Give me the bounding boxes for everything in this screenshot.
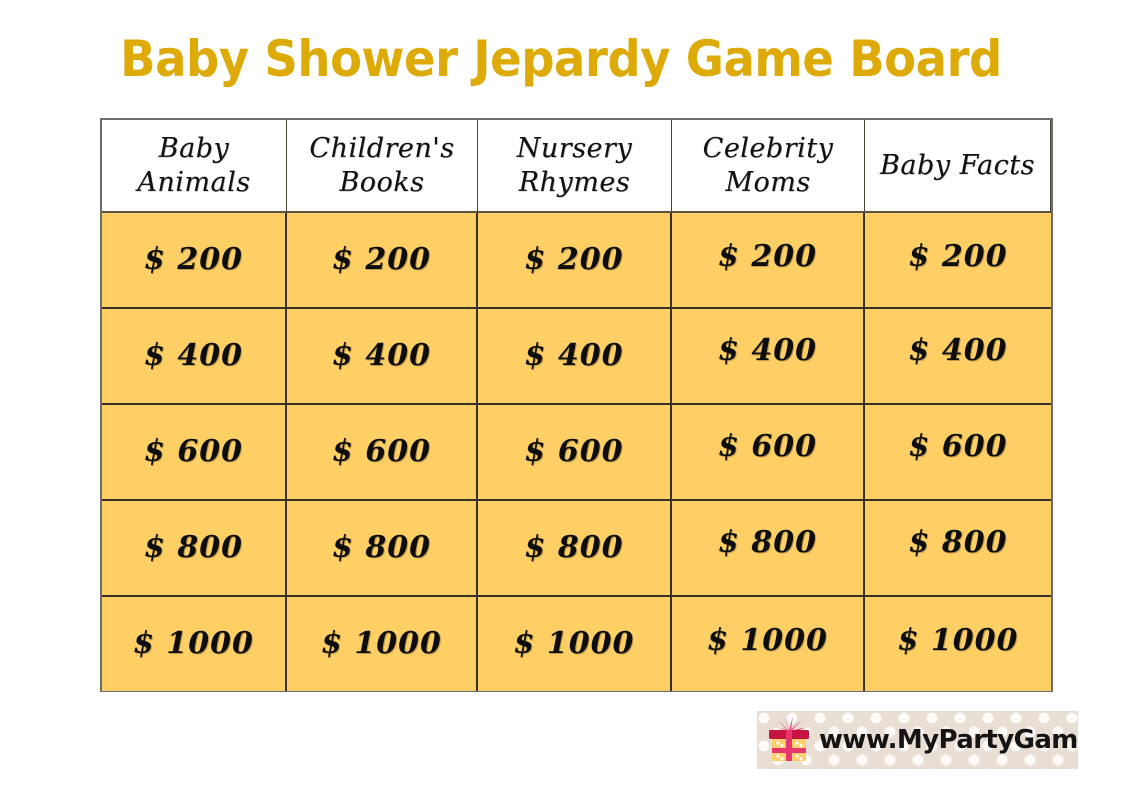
cell-value: $ 1000 <box>514 627 635 661</box>
board-cell-nursery-rhymes-1000[interactable]: $ 1000 <box>478 597 672 691</box>
board-cell-childrens-books-400[interactable]: $ 400 <box>287 309 478 405</box>
board-cell-childrens-books-200[interactable]: $ 200 <box>287 213 478 309</box>
jeopardy-game-board: Baby Animals Children's Books Nursery Rh… <box>100 118 1053 692</box>
page-title: Baby Shower Jepardy Game Board <box>39 30 1082 88</box>
board-cell-childrens-books-1000[interactable]: $ 1000 <box>287 597 478 691</box>
board-cell-baby-facts-600[interactable]: $ 600 <box>865 405 1051 501</box>
board-value-row: $ 1000 $ 1000 $ 1000 $ 1000 $ 1000 <box>102 597 1051 691</box>
cell-value: $ 200 <box>909 240 1008 274</box>
cell-value: $ 400 <box>144 339 243 373</box>
cell-value: $ 800 <box>332 531 431 565</box>
cell-value: $ 400 <box>909 334 1008 368</box>
board-cell-baby-animals-800[interactable]: $ 800 <box>102 501 287 597</box>
cell-value: $ 200 <box>144 243 243 277</box>
category-line-2: Books <box>339 167 424 198</box>
category-header-label: Children's Books <box>305 132 458 200</box>
category-line-1: Nursery <box>517 133 632 164</box>
board-cell-baby-facts-400[interactable]: $ 400 <box>865 309 1051 405</box>
category-line-1: Celebrity <box>703 133 834 164</box>
cell-value: $ 600 <box>718 430 817 464</box>
board-cell-nursery-rhymes-200[interactable]: $ 200 <box>478 213 672 309</box>
board-cell-celebrity-moms-400[interactable]: $ 400 <box>672 309 865 405</box>
watermark-url-label: www.MyPartyGames.com <box>819 725 1078 755</box>
board-cell-nursery-rhymes-800[interactable]: $ 800 <box>478 501 672 597</box>
category-line-1: Baby <box>159 133 229 164</box>
category-header-label: Baby Animals <box>133 132 254 200</box>
cell-value: $ 600 <box>525 435 624 469</box>
category-line-1: Children's <box>309 133 454 164</box>
category-line-2: Moms <box>725 167 810 198</box>
board-cell-baby-facts-200[interactable]: $ 200 <box>865 213 1051 309</box>
board-cell-nursery-rhymes-400[interactable]: $ 400 <box>478 309 672 405</box>
category-line-2: Rhymes <box>519 167 630 198</box>
cell-value: $ 400 <box>525 339 624 373</box>
cell-value: $ 800 <box>525 531 624 565</box>
board-value-row: $ 800 $ 800 $ 800 $ 800 $ 800 <box>102 501 1051 597</box>
board-cell-celebrity-moms-1000[interactable]: $ 1000 <box>672 597 865 691</box>
category-header-baby-facts[interactable]: Baby Facts <box>865 120 1051 213</box>
cell-value: $ 600 <box>144 435 243 469</box>
board-cell-baby-facts-1000[interactable]: $ 1000 <box>865 597 1051 691</box>
cell-value: $ 200 <box>718 240 817 274</box>
board-cell-celebrity-moms-800[interactable]: $ 800 <box>672 501 865 597</box>
cell-value: $ 800 <box>144 531 243 565</box>
cell-value: $ 200 <box>332 243 431 277</box>
category-header-childrens-books[interactable]: Children's Books <box>287 120 478 213</box>
board-value-row: $ 400 $ 400 $ 400 $ 400 $ 400 <box>102 309 1051 405</box>
category-line-2: Animals <box>137 167 250 198</box>
category-header-label: Nursery Rhymes <box>513 132 636 200</box>
board-cell-celebrity-moms-600[interactable]: $ 600 <box>672 405 865 501</box>
cell-value: $ 1000 <box>898 624 1019 658</box>
category-header-label: Baby Facts <box>876 149 1039 183</box>
board-cell-childrens-books-800[interactable]: $ 800 <box>287 501 478 597</box>
cell-value: $ 200 <box>525 243 624 277</box>
cell-value: $ 600 <box>909 430 1008 464</box>
board-cell-baby-facts-800[interactable]: $ 800 <box>865 501 1051 597</box>
cell-value: $ 1000 <box>133 627 254 661</box>
category-line-1: Baby Facts <box>880 150 1035 181</box>
cell-value: $ 1000 <box>321 627 442 661</box>
board-cell-baby-animals-400[interactable]: $ 400 <box>102 309 287 405</box>
cell-value: $ 800 <box>909 526 1008 560</box>
category-header-celebrity-moms[interactable]: Celebrity Moms <box>672 120 865 213</box>
cell-value: $ 600 <box>332 435 431 469</box>
board-cell-baby-animals-1000[interactable]: $ 1000 <box>102 597 287 691</box>
board-cell-celebrity-moms-200[interactable]: $ 200 <box>672 213 865 309</box>
gift-box-icon <box>763 714 815 766</box>
board-cell-baby-animals-600[interactable]: $ 600 <box>102 405 287 501</box>
site-watermark[interactable]: www.MyPartyGames.com <box>757 711 1078 769</box>
cell-value: $ 400 <box>718 334 817 368</box>
board-value-row: $ 600 $ 600 $ 600 $ 600 $ 600 <box>102 405 1051 501</box>
category-header-label: Celebrity Moms <box>699 132 838 200</box>
category-header-nursery-rhymes[interactable]: Nursery Rhymes <box>478 120 672 213</box>
board-cell-childrens-books-600[interactable]: $ 600 <box>287 405 478 501</box>
cell-value: $ 400 <box>332 339 431 373</box>
board-cell-baby-animals-200[interactable]: $ 200 <box>102 213 287 309</box>
cell-value: $ 1000 <box>707 624 828 658</box>
category-header-baby-animals[interactable]: Baby Animals <box>102 120 287 213</box>
cell-value: $ 800 <box>718 526 817 560</box>
board-header-row: Baby Animals Children's Books Nursery Rh… <box>102 120 1051 213</box>
board-value-row: $ 200 $ 200 $ 200 $ 200 $ 200 <box>102 213 1051 309</box>
board-cell-nursery-rhymes-600[interactable]: $ 600 <box>478 405 672 501</box>
